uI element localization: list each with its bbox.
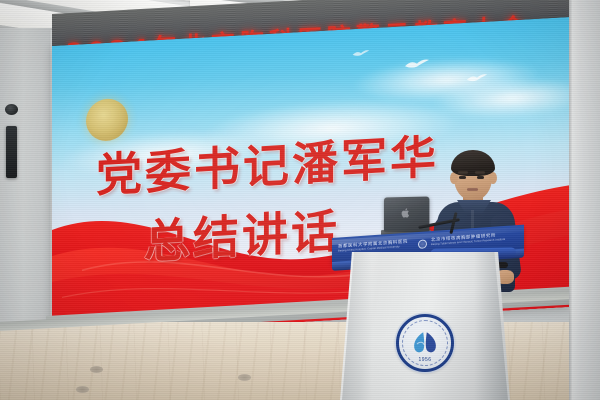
dove-icon bbox=[352, 48, 370, 57]
floor-socket bbox=[90, 366, 103, 373]
hospital-emblem: 1956 bbox=[396, 314, 454, 372]
left-wall bbox=[0, 28, 52, 344]
lectern: 1956 bbox=[340, 252, 510, 400]
emblem-year: 1956 bbox=[399, 357, 451, 363]
presenter-mouth bbox=[467, 188, 478, 191]
presenter-brow bbox=[458, 171, 468, 174]
presenter-ear bbox=[489, 172, 497, 184]
stage-floor bbox=[0, 322, 600, 400]
presenter-eye bbox=[459, 176, 466, 179]
floor-socket bbox=[76, 386, 89, 393]
apple-logo-icon bbox=[402, 208, 411, 218]
wall-sensor-icon bbox=[5, 104, 18, 115]
floor-socket bbox=[238, 374, 251, 381]
stage-photo-scene: 2024年北京胸科医院警示教育大会 bbox=[0, 0, 600, 400]
desk-seal-icon bbox=[418, 239, 427, 249]
floor-wood-grain bbox=[0, 322, 600, 400]
dove-icon bbox=[466, 72, 488, 83]
right-pillar bbox=[572, 0, 600, 400]
presenter-brow bbox=[475, 171, 485, 174]
dove-icon bbox=[404, 57, 430, 69]
presenter-eye bbox=[477, 176, 484, 179]
wall-mounted-panel bbox=[6, 126, 17, 178]
